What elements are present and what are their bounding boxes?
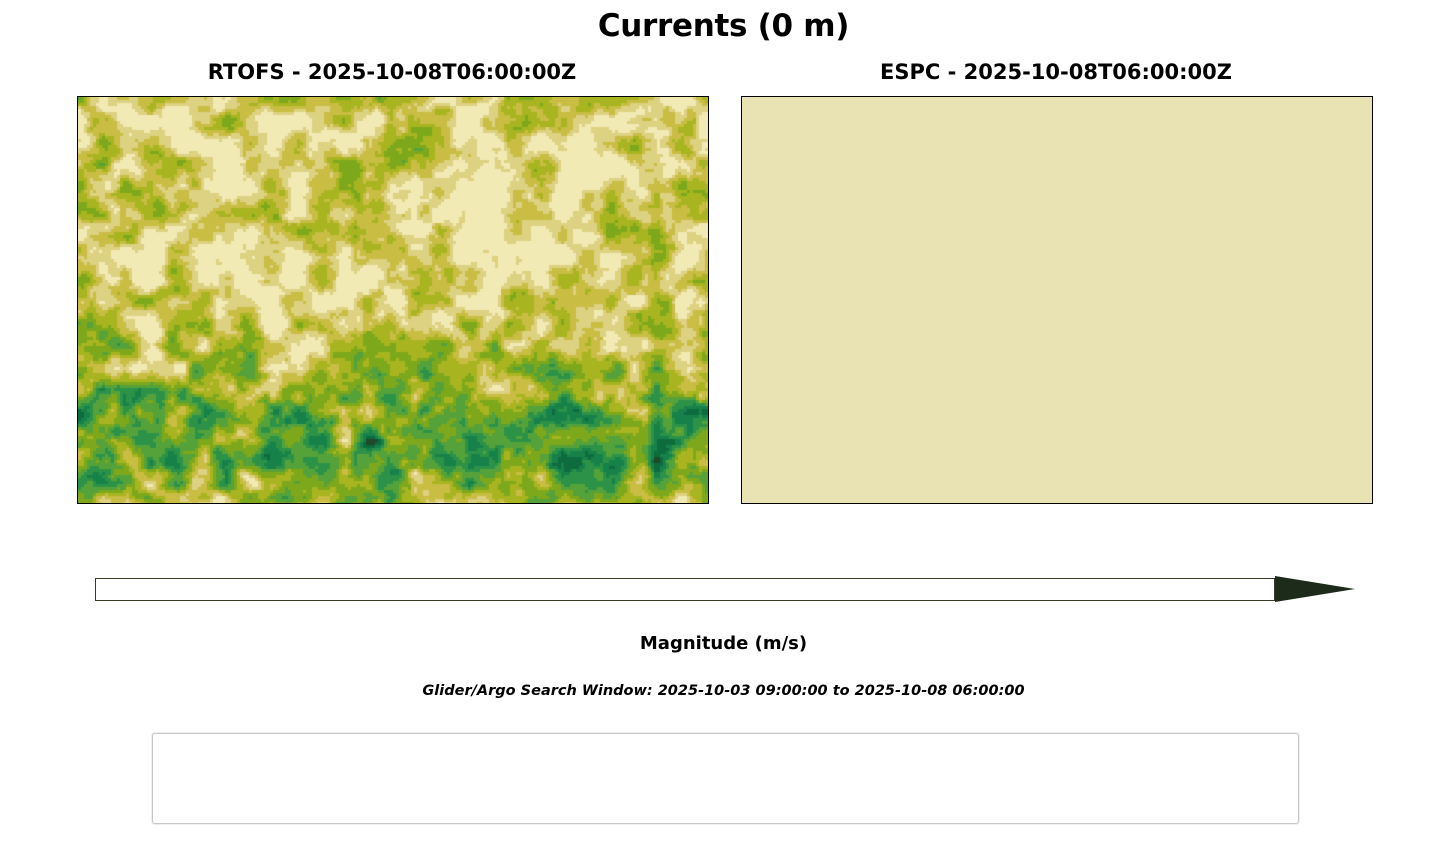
magnitude-field — [78, 97, 708, 503]
search-window-text: Glider/Argo Search Window: 2025-10-03 09… — [0, 683, 1447, 699]
panel-title-espc: ESPC - 2025-10-08T06:00:00Z — [741, 60, 1371, 84]
colorbar[interactable] — [95, 578, 1275, 601]
map-panel-espc[interactable] — [741, 96, 1373, 504]
colorbar-extend-arrow — [1275, 576, 1355, 602]
map-panel-rtofs[interactable] — [77, 96, 709, 504]
colorbar-title: Magnitude (m/s) — [0, 633, 1447, 654]
platform-legend[interactable] — [152, 733, 1299, 824]
figure-title: Currents (0 m) — [0, 8, 1447, 44]
panel-title-rtofs: RTOFS - 2025-10-08T06:00:00Z — [77, 60, 707, 84]
